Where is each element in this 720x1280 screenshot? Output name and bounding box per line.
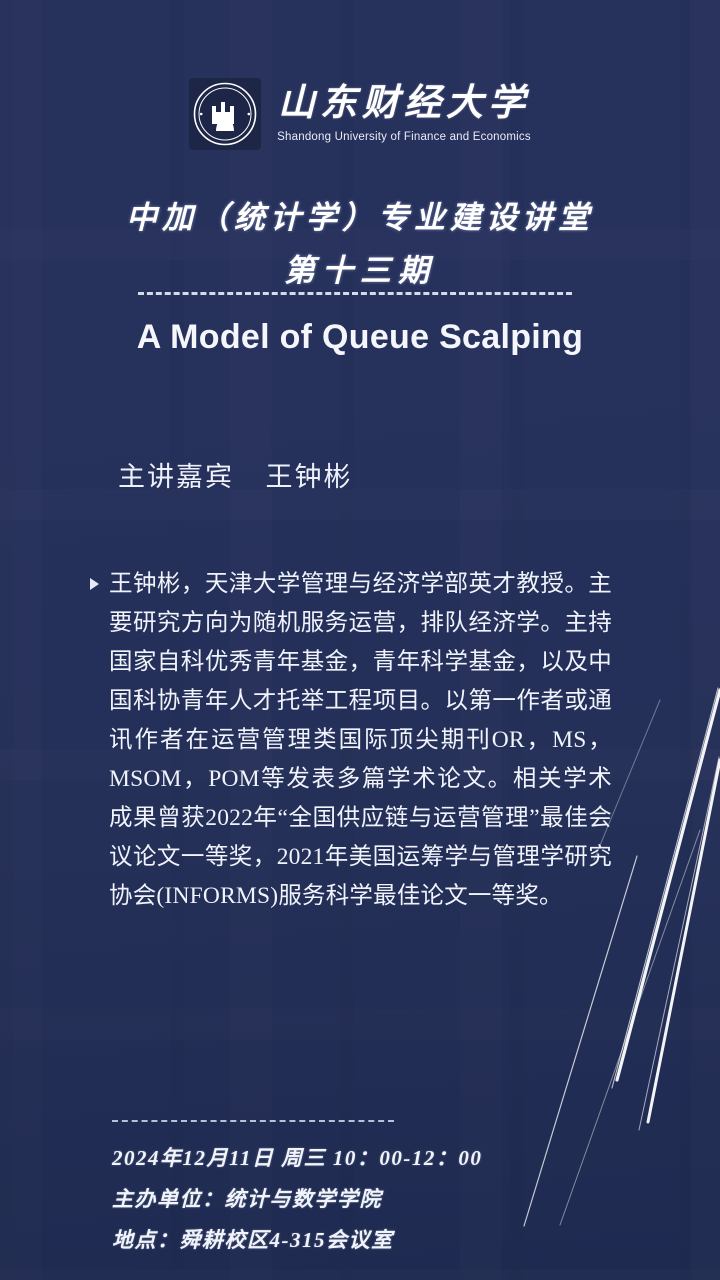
university-seal-icon: [189, 78, 261, 150]
triangle-right-icon: [90, 578, 99, 590]
speaker-label: 主讲嘉宾: [118, 462, 234, 492]
speaker-line: 主讲嘉宾 王钟彬: [118, 455, 353, 494]
university-logo-block: 山东财经大学 Shandong University of Finance an…: [0, 78, 720, 150]
speaker-bio-text: 王钟彬，天津大学管理与经济学部英才教授。主要研究方向为随机服务运营，排队经济学。…: [109, 565, 612, 916]
speaker-name: 王钟彬: [266, 462, 353, 492]
talk-title-en: A Model of Queue Scalping: [0, 318, 720, 357]
speaker-bio-block: 王钟彬，天津大学管理与经济学部英才教授。主要研究方向为随机服务运营，排队经济学。…: [90, 565, 612, 916]
event-organizer: 主办单位：统计与数学学院: [112, 1183, 482, 1213]
divider-bottom: [112, 1120, 394, 1122]
series-title-line2: 第十三期: [0, 245, 720, 290]
series-title: 中加（统计学）专业建设讲堂 第十三期: [0, 192, 720, 290]
series-title-line1: 中加（统计学）专业建设讲堂: [126, 200, 594, 235]
divider-top: [138, 292, 572, 295]
event-venue: 地点：舜耕校区4-315会议室: [112, 1224, 482, 1254]
university-name-cn: 山东财经大学: [278, 85, 530, 124]
event-datetime: 2024年12月11日 周三 10：00-12：00: [112, 1142, 482, 1172]
poster-root: 山东财经大学 Shandong University of Finance an…: [0, 0, 720, 1280]
event-details: 2024年12月11日 周三 10：00-12：00 主办单位：统计与数学学院 …: [112, 1142, 482, 1265]
university-name-en: Shandong University of Finance and Econo…: [277, 131, 531, 143]
